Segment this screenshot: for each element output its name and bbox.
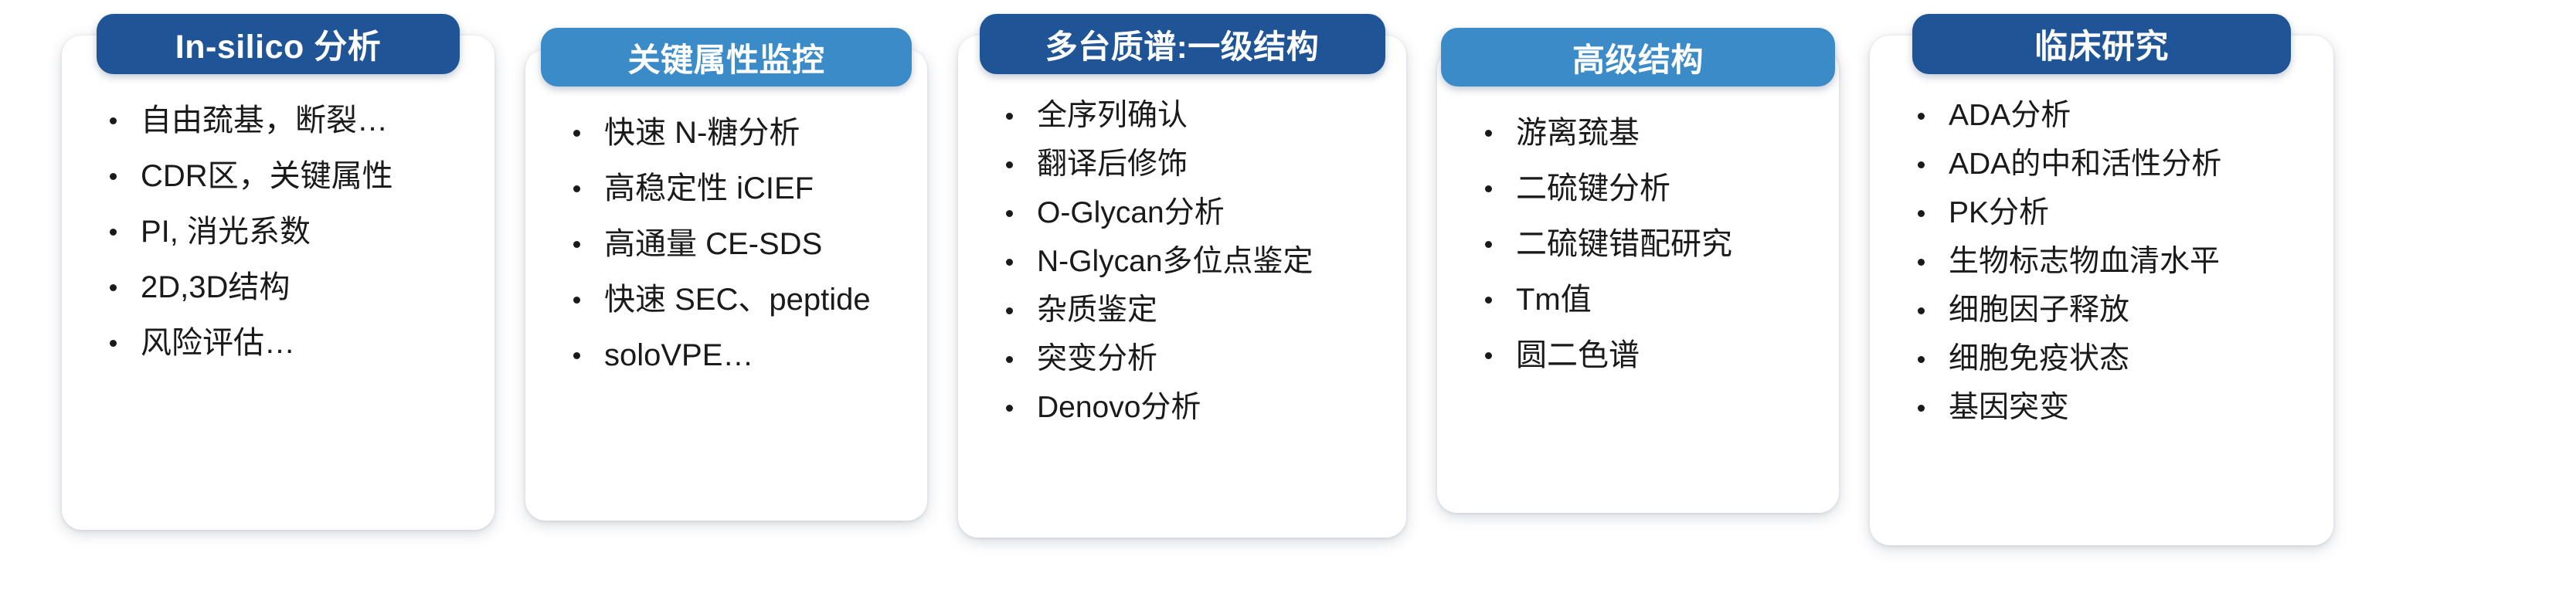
list-item: 风险评估… <box>105 327 473 358</box>
bullet-icon <box>1006 356 1013 363</box>
bullet-icon <box>1918 210 1925 217</box>
card-list-higher-order-structure: 游离巯基 二硫键分析 二硫键错配研究 Tm值 圆二色谱 <box>1437 87 1839 371</box>
list-item: 基因突变 <box>1913 392 2312 422</box>
list-item: 全序列确认 <box>1001 100 1385 131</box>
list-item: 翻译后修饰 <box>1001 149 1385 179</box>
bullet-icon <box>110 173 117 180</box>
bullet-icon <box>573 297 580 304</box>
bullet-icon <box>1918 259 1925 266</box>
card-header-clinical-research: 临床研究 <box>1912 14 2291 74</box>
bullet-icon <box>1918 113 1925 120</box>
list-item-label: 二硫键分析 <box>1516 171 1670 205</box>
list-item-label: 高稳定性 iCIEF <box>604 171 814 205</box>
list-item-label: CDR区，关键属性 <box>141 159 393 193</box>
list-item-label: ADA的中和活性分析 <box>1949 148 2221 181</box>
list-item-label: 二硫键错配研究 <box>1516 227 1732 261</box>
list-item: Denovo分析 <box>1001 392 1385 422</box>
list-item-label: 2D,3D结构 <box>141 270 290 304</box>
list-item: CDR区，关键属性 <box>105 161 473 192</box>
list-item-label: 全序列确认 <box>1037 99 1188 132</box>
card-list-critical-attribute-monitoring: 快速 N-糖分析 高稳定性 iCIEF 高通量 CE-SDS 快速 SEC、pe… <box>525 87 927 371</box>
list-item: 自由巯基，断裂… <box>105 105 473 136</box>
bullet-icon <box>1006 161 1013 168</box>
list-item: PI, 消光系数 <box>105 216 473 247</box>
bullet-icon <box>573 185 580 192</box>
card-header-multi-ms-primary-structure: 多台质谱:一级结构 <box>980 14 1385 74</box>
bullet-icon <box>1006 259 1013 266</box>
bullet-icon <box>573 241 580 248</box>
bullet-icon <box>573 130 580 137</box>
bullet-icon <box>573 352 580 359</box>
list-item: 细胞免疫状态 <box>1913 344 2312 374</box>
list-item-label: 圆二色谱 <box>1516 338 1640 372</box>
list-item-label: 风险评估… <box>141 326 295 360</box>
card-header-critical-attribute-monitoring: 关键属性监控 <box>541 28 912 87</box>
list-item: 高稳定性 iCIEF <box>569 173 906 204</box>
bullet-icon <box>1485 352 1492 359</box>
list-item: 二硫键分析 <box>1480 173 1817 204</box>
bullet-icon <box>1918 307 1925 314</box>
list-item: 2D,3D结构 <box>105 272 473 303</box>
bullet-icon <box>1006 405 1013 412</box>
bullet-icon <box>1006 307 1013 314</box>
list-item-label: 自由巯基，断裂… <box>141 103 388 137</box>
card-header-higher-order-structure: 高级结构 <box>1441 28 1835 87</box>
card-critical-attribute-monitoring[interactable]: 关键属性监控 快速 N-糖分析 高稳定性 iCIEF 高通量 CE-SDS 快速… <box>525 49 927 521</box>
list-item: ADA的中和活性分析 <box>1913 149 2312 179</box>
bullet-icon <box>110 117 117 124</box>
list-item-label: soloVPE… <box>604 338 753 372</box>
list-item-label: 高通量 CE-SDS <box>604 227 822 261</box>
bullet-icon <box>1485 297 1492 304</box>
list-item: 游离巯基 <box>1480 117 1817 148</box>
bullet-icon <box>1918 405 1925 412</box>
list-item: 快速 N-糖分析 <box>569 117 906 148</box>
list-item: 生物标志物血清水平 <box>1913 246 2312 277</box>
card-list-in-silico-analysis: 自由巯基，断裂… CDR区，关键属性 PI, 消光系数 2D,3D结构 风险评估… <box>62 74 494 358</box>
list-item: PK分析 <box>1913 198 2312 228</box>
card-multi-ms-primary-structure[interactable]: 多台质谱:一级结构 全序列确认 翻译后修饰 O-Glycan分析 N-Glyca… <box>958 36 1406 538</box>
list-item: Tm值 <box>1480 284 1817 315</box>
list-item: 圆二色谱 <box>1480 340 1817 371</box>
list-item-label: PI, 消光系数 <box>141 215 311 249</box>
list-item-label: 杂质鉴定 <box>1037 294 1157 327</box>
bullet-icon <box>1918 161 1925 168</box>
slide-canvas: In-silico 分析 自由巯基，断裂… CDR区，关键属性 PI, 消光系数… <box>0 0 2576 604</box>
card-row: In-silico 分析 自由巯基，断裂… CDR区，关键属性 PI, 消光系数… <box>0 0 2576 604</box>
list-item-label: 突变分析 <box>1037 342 1157 375</box>
list-item-label: 游离巯基 <box>1516 116 1640 150</box>
card-clinical-research[interactable]: 临床研究 ADA分析 ADA的中和活性分析 PK分析 生物标志物血清水平 <box>1870 36 2333 545</box>
list-item-label: 细胞因子释放 <box>1949 294 2129 327</box>
list-item-label: Denovo分析 <box>1037 391 1201 424</box>
list-item-label: 细胞免疫状态 <box>1949 342 2129 375</box>
list-item: 快速 SEC、peptide <box>569 284 906 315</box>
card-in-silico-analysis[interactable]: In-silico 分析 自由巯基，断裂… CDR区，关键属性 PI, 消光系数… <box>62 36 494 530</box>
list-item: soloVPE… <box>569 340 906 371</box>
bullet-icon <box>1485 130 1492 137</box>
list-item-label: Tm值 <box>1516 283 1592 317</box>
list-item: ADA分析 <box>1913 100 2312 131</box>
card-higher-order-structure[interactable]: 高级结构 游离巯基 二硫键分析 二硫键错配研究 Tm值 <box>1437 49 1839 513</box>
list-item: 二硫键错配研究 <box>1480 229 1817 260</box>
list-item-label: 基因突变 <box>1949 391 2069 424</box>
bullet-icon <box>1918 356 1925 363</box>
bullet-icon <box>110 284 117 291</box>
list-item-label: ADA分析 <box>1949 99 2071 132</box>
list-item: O-Glycan分析 <box>1001 198 1385 228</box>
list-item: 细胞因子释放 <box>1913 295 2312 325</box>
list-item-label: O-Glycan分析 <box>1037 196 1225 229</box>
list-item: 高通量 CE-SDS <box>569 229 906 260</box>
list-item-label: N-Glycan多位点鉴定 <box>1037 245 1313 278</box>
list-item: 杂质鉴定 <box>1001 295 1385 325</box>
card-list-clinical-research: ADA分析 ADA的中和活性分析 PK分析 生物标志物血清水平 细胞因子释放 <box>1870 74 2333 422</box>
bullet-icon <box>1006 210 1013 217</box>
bullet-icon <box>1485 185 1492 192</box>
list-item-label: 翻译后修饰 <box>1037 148 1188 181</box>
bullet-icon <box>110 229 117 236</box>
list-item-label: 快速 SEC、peptide <box>604 283 871 317</box>
bullet-icon <box>1485 241 1492 248</box>
bullet-icon <box>1006 113 1013 120</box>
list-item-label: 快速 N-糖分析 <box>604 116 800 150</box>
bullet-icon <box>110 340 117 347</box>
card-header-in-silico-analysis: In-silico 分析 <box>97 14 460 74</box>
list-item-label: 生物标志物血清水平 <box>1949 245 2220 278</box>
card-list-multi-ms-primary-structure: 全序列确认 翻译后修饰 O-Glycan分析 N-Glycan多位点鉴定 杂质鉴… <box>958 74 1406 422</box>
list-item: 突变分析 <box>1001 344 1385 374</box>
list-item-label: PK分析 <box>1949 196 2049 229</box>
list-item: N-Glycan多位点鉴定 <box>1001 246 1385 277</box>
